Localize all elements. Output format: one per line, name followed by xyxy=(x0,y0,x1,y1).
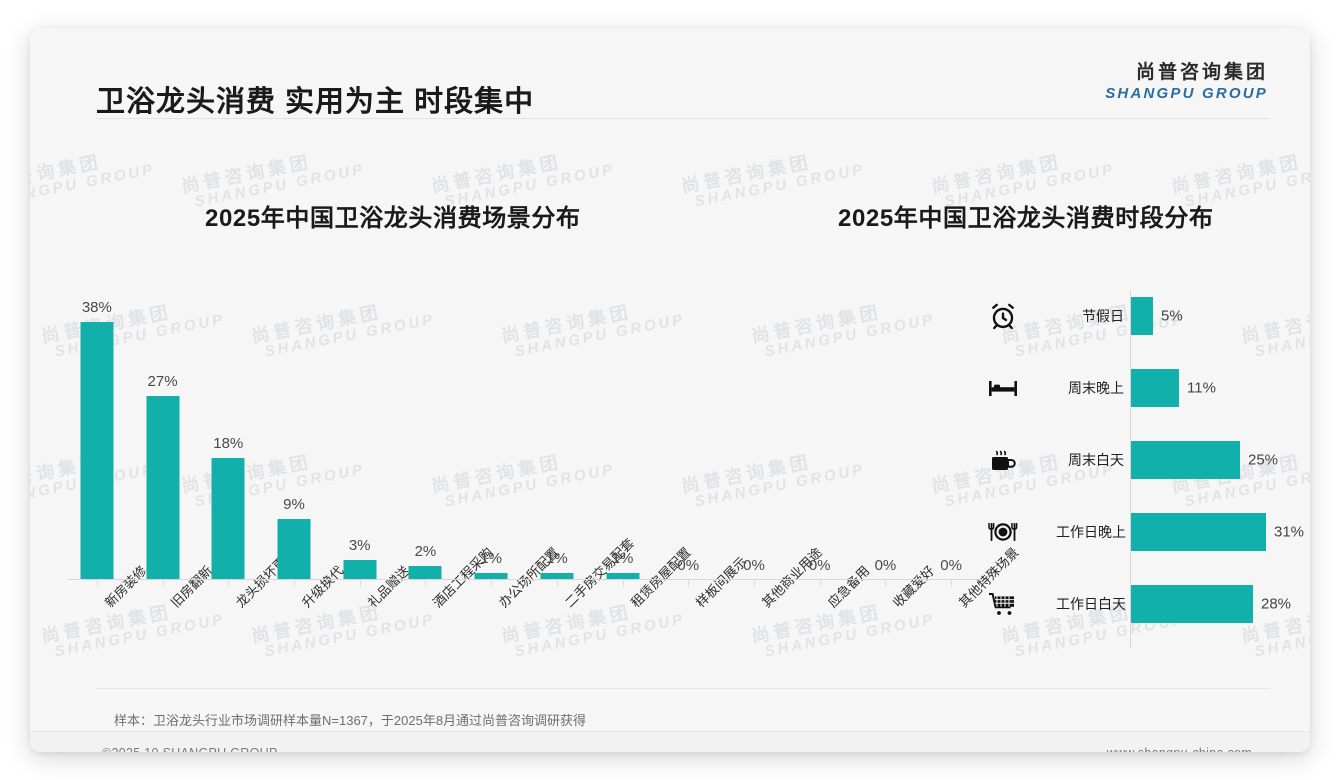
scene-bar[interactable] xyxy=(343,560,376,580)
brand-logo-en: SHANGPU GROUP xyxy=(1105,85,1268,103)
time-bar-category-label: 周末白天 xyxy=(1056,450,1124,470)
scene-bar-item[interactable]: 0%其他商业用途 xyxy=(721,278,787,580)
time-bar-category-label: 节假日 xyxy=(1056,306,1124,326)
scene-bar-value: 27% xyxy=(148,373,178,390)
chart-title-time: 2025年中国卫浴龙头消费时段分布 xyxy=(838,198,1214,233)
scene-bar-value: 0% xyxy=(875,557,897,574)
scene-axis-tick xyxy=(294,580,295,587)
brand-logo: 尚普咨询集团 SHANGPU GROUP xyxy=(1105,62,1268,103)
time-bar-category-label: 工作日晚上 xyxy=(1056,522,1124,542)
scene-bar-item[interactable]: 1%租赁房屋配置 xyxy=(590,278,656,580)
time-bar-value: 31% xyxy=(1274,524,1304,541)
scene-axis-tick xyxy=(491,580,492,587)
scene-bar-value: 1% xyxy=(480,550,502,567)
scene-bar-value: 0% xyxy=(743,557,765,574)
time-bar-row[interactable]: 工作日晚上31% xyxy=(980,496,1310,568)
scene-chart-baseline xyxy=(68,579,980,580)
time-bar-row[interactable]: 工作日白天28% xyxy=(980,568,1310,640)
scene-bar-item[interactable]: 0%应急备用 xyxy=(787,278,853,580)
slide-canvas: 尚普咨询集团SHANGPU GROUP尚普咨询集团SHANGPU GROUP尚普… xyxy=(0,0,1340,780)
header-divider xyxy=(96,118,1270,119)
scene-axis-tick xyxy=(425,580,426,587)
scene-bar-value: 9% xyxy=(283,496,305,513)
time-bar-row[interactable]: 周末晚上11% xyxy=(980,352,1310,424)
scene-bar-item[interactable]: 2%酒店工程采购 xyxy=(393,278,459,580)
shopping-cart-icon xyxy=(986,587,1020,621)
scene-axis-tick xyxy=(820,580,821,587)
watermark-en: SHANGPU GROUP xyxy=(30,162,156,211)
scene-axis-tick xyxy=(557,580,558,587)
coffee-mug-icon xyxy=(986,443,1020,477)
scene-bar-item[interactable]: 0%收藏爱好 xyxy=(853,278,919,580)
scene-distribution-chart: 38%新房装修27%旧房翻新18%龙头损坏更换9%升级换代3%礼品赠送2%酒店工… xyxy=(64,278,984,678)
brand-logo-cn: 尚普咨询集团 xyxy=(1105,62,1268,84)
scene-axis-tick xyxy=(754,580,755,587)
time-bar-value: 25% xyxy=(1248,452,1278,469)
scene-bar-item[interactable]: 18%龙头损坏更换 xyxy=(195,278,261,580)
watermark-cn: 尚普咨询集团 xyxy=(30,143,153,196)
dinner-plate-icon xyxy=(986,515,1020,549)
time-bar[interactable] xyxy=(1131,513,1266,551)
scene-axis-tick xyxy=(885,580,886,587)
watermark: 尚普咨询集团SHANGPU GROUP xyxy=(30,143,156,212)
scene-bar-item[interactable]: 1%办公场所配置 xyxy=(458,278,524,580)
scene-bar[interactable] xyxy=(146,396,179,580)
scene-bar-value: 0% xyxy=(677,557,699,574)
bed-icon xyxy=(986,371,1020,405)
time-bar[interactable] xyxy=(1131,585,1253,623)
page-title: 卫浴龙头消费 实用为主 时段集中 xyxy=(96,78,534,120)
footer-copyright: ©2025.10 SHANGPU GROUP xyxy=(102,746,278,752)
watermark-cn: 尚普咨询集团 xyxy=(1170,143,1310,196)
time-bar-category-label: 工作日白天 xyxy=(1056,594,1124,614)
scene-bar-item[interactable]: 0%样板间展示 xyxy=(655,278,721,580)
time-bar-category-label: 周末晚上 xyxy=(1056,378,1124,398)
scene-bar-item[interactable]: 0%其他特殊场景 xyxy=(918,278,984,580)
watermark-cn: 尚普咨询集团 xyxy=(930,143,1113,196)
scene-axis-tick xyxy=(360,580,361,587)
scene-axis-tick xyxy=(951,580,952,587)
time-bar[interactable] xyxy=(1131,441,1240,479)
scene-bar-value: 38% xyxy=(82,299,112,316)
scene-bar-value: 3% xyxy=(349,537,371,554)
scene-bar[interactable] xyxy=(409,566,442,580)
scene-bar-value: 2% xyxy=(415,543,437,560)
scene-axis-tick xyxy=(623,580,624,587)
scene-axis-tick xyxy=(688,580,689,587)
time-bar-value: 28% xyxy=(1261,596,1291,613)
scene-bar-item[interactable]: 38%新房装修 xyxy=(64,278,130,580)
time-bar-row[interactable]: 节假日5% xyxy=(980,280,1310,352)
time-bar[interactable] xyxy=(1131,297,1153,335)
scene-bar-value: 1% xyxy=(546,550,568,567)
scene-axis-tick xyxy=(228,580,229,587)
scene-axis-tick xyxy=(97,580,98,587)
alarm-clock-icon xyxy=(986,299,1020,333)
slide-card: 尚普咨询集团SHANGPU GROUP尚普咨询集团SHANGPU GROUP尚普… xyxy=(30,28,1310,752)
footnote-divider xyxy=(96,688,1270,689)
sample-footnote: 样本：卫浴龙头行业市场调研样本量N=1367，于2025年8月通过尚普咨询调研获… xyxy=(114,710,586,729)
scene-bar-value: 0% xyxy=(940,557,962,574)
scene-bar-item[interactable]: 9%升级换代 xyxy=(261,278,327,580)
time-bar-row[interactable]: 周末白天25% xyxy=(980,424,1310,496)
watermark-cn: 尚普咨询集团 xyxy=(430,143,613,196)
scene-bar-value: 0% xyxy=(809,557,831,574)
scene-bar[interactable] xyxy=(277,519,310,580)
chart-title-scene: 2025年中国卫浴龙头消费场景分布 xyxy=(205,198,581,233)
watermark-cn: 尚普咨询集团 xyxy=(680,143,863,196)
slide-header: 卫浴龙头消费 实用为主 时段集中 尚普咨询集团 SHANGPU GROUP xyxy=(30,28,1310,120)
time-distribution-chart: 节假日5%周末晚上11%周末白天25%工作日晚上31%工作日白天28% xyxy=(980,280,1310,660)
watermark-cn: 尚普咨询集团 xyxy=(180,143,363,196)
scene-bar-item[interactable]: 3%礼品赠送 xyxy=(327,278,393,580)
time-bar-value: 5% xyxy=(1161,308,1183,325)
time-bar[interactable] xyxy=(1131,369,1179,407)
footer-website[interactable]: www.shangpu-china.com xyxy=(1107,746,1252,752)
scene-axis-tick xyxy=(163,580,164,587)
scene-bar[interactable] xyxy=(80,322,113,580)
scene-chart-plot-area: 38%新房装修27%旧房翻新18%龙头损坏更换9%升级换代3%礼品赠送2%酒店工… xyxy=(64,278,984,580)
scene-bar[interactable] xyxy=(212,458,245,580)
scene-bar-value: 18% xyxy=(213,435,243,452)
scene-bar-item[interactable]: 1%二手房交易配套 xyxy=(524,278,590,580)
scene-bar-value: 1% xyxy=(612,550,634,567)
scene-bar-item[interactable]: 27%旧房翻新 xyxy=(130,278,196,580)
time-bar-value: 11% xyxy=(1187,380,1216,397)
